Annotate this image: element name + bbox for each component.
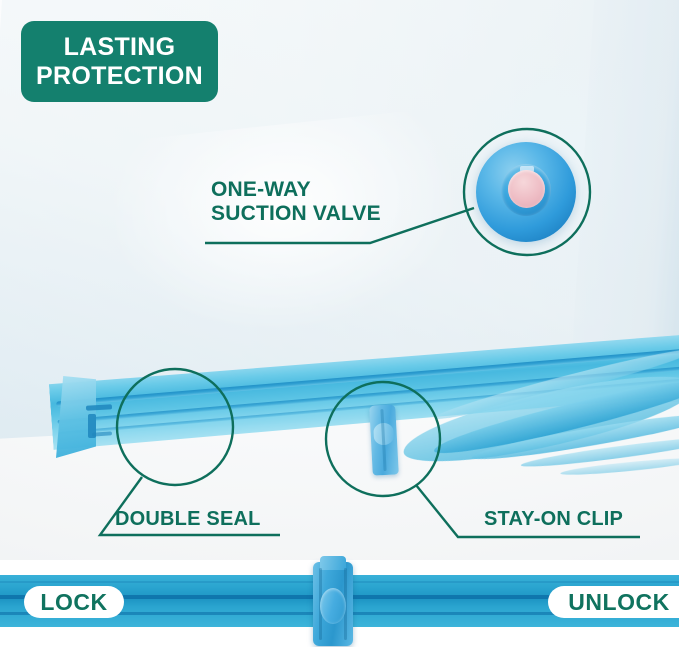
- suction-valve: [476, 142, 576, 242]
- lock-bar-slider-clip: [313, 562, 353, 646]
- callout-label-line1: ONE-WAY: [211, 178, 311, 201]
- badge-line1: LASTING: [64, 33, 176, 62]
- callout-label-suction-valve: ONE-WAYSUCTION VALVE: [211, 178, 381, 225]
- lasting-protection-badge: LASTING PROTECTION: [21, 21, 218, 102]
- valve-membrane: [508, 170, 545, 208]
- product-feature-image: ONE-WAYSUCTION VALVE DOUBLE SEAL STAY-ON…: [0, 0, 679, 647]
- slider-top-tab: [320, 556, 346, 570]
- callout-label-stay-on-clip: STAY-ON CLIP: [484, 508, 623, 530]
- slider-grip: [320, 588, 346, 624]
- bag-photo: ONE-WAYSUCTION VALVE DOUBLE SEAL STAY-ON…: [0, 0, 679, 560]
- badge-line2: PROTECTION: [36, 62, 203, 91]
- unlock-label-pill: UNLOCK: [548, 586, 679, 618]
- stay-on-clip-on-bag: [369, 404, 399, 475]
- callout-label-line2: SUCTION VALVE: [211, 202, 381, 225]
- lock-label-pill: LOCK: [24, 586, 124, 618]
- callout-label-double-seal: DOUBLE SEAL: [115, 508, 261, 530]
